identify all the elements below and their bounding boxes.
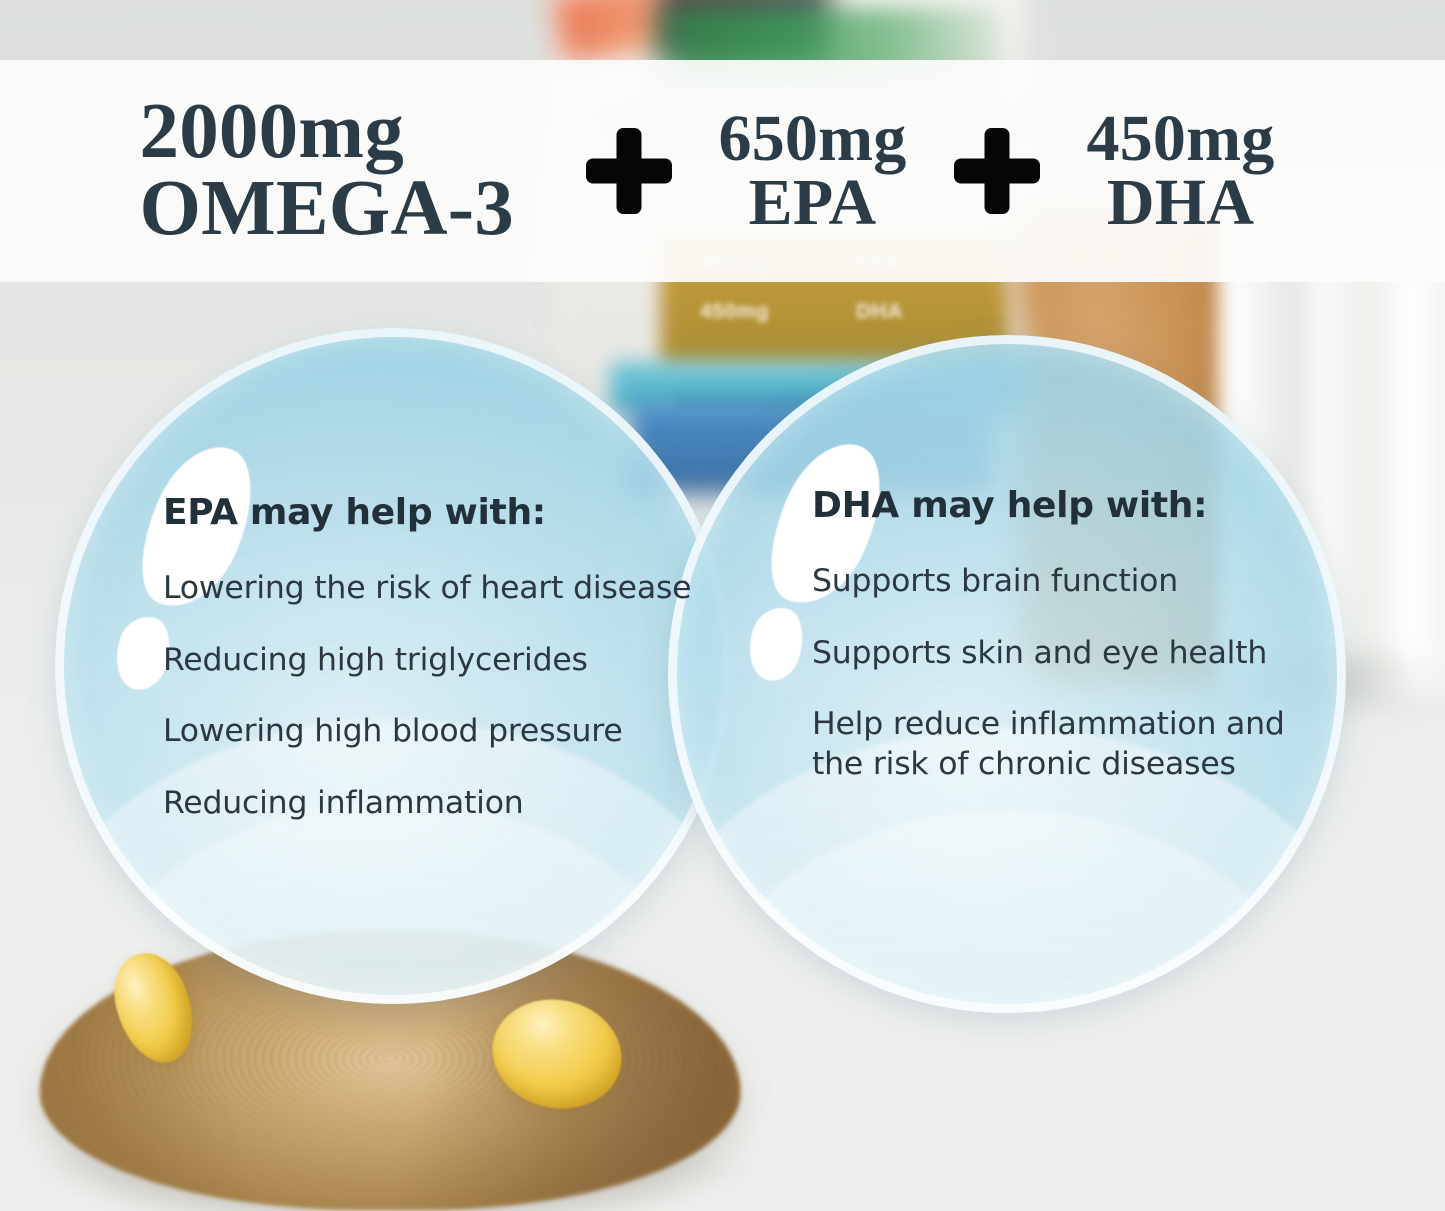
dosage-header-band: 2000mg OMEGA-3 650mg EPA 450mg DHA <box>0 60 1445 282</box>
dosage-omega3-amount: 2000mg <box>140 94 570 171</box>
infographic-canvas: 450mg EPA 450mg DHA 2000mg OMEGA-3 650mg… <box>0 0 1445 1211</box>
dosage-epa-compound: EPA <box>688 171 938 235</box>
plus-icon-1 <box>586 128 672 214</box>
photo-panel-amount-2: 450mg <box>700 300 769 324</box>
dosage-omega3-compound: OMEGA-3 <box>140 171 570 248</box>
dosage-dha-compound: DHA <box>1056 171 1306 235</box>
dha-content: DHA may help with: Supports brain functi… <box>812 485 1312 785</box>
dosage-row: 2000mg OMEGA-3 650mg EPA 450mg DHA <box>0 94 1445 247</box>
epa-content: EPA may help with: Lowering the risk of … <box>163 492 723 824</box>
epa-benefit-item: Lowering high blood pressure <box>163 712 723 752</box>
dha-benefit-item: Supports brain function <box>812 562 1312 602</box>
epa-benefit-list: Lowering the risk of heart disease Reduc… <box>163 569 723 824</box>
dha-benefit-item: Help reduce inflammation and the risk of… <box>812 705 1312 784</box>
dosage-epa: 650mg EPA <box>688 107 938 235</box>
dosage-dha: 450mg DHA <box>1056 107 1306 235</box>
epa-benefit-item: Reducing inflammation <box>163 784 723 824</box>
epa-benefit-item: Reducing high triglycerides <box>163 641 723 681</box>
dosage-omega3: 2000mg OMEGA-3 <box>140 94 570 247</box>
photo-panel-compound-2: DHA <box>856 300 903 324</box>
dosage-dha-amount: 450mg <box>1056 107 1306 171</box>
dosage-epa-amount: 650mg <box>688 107 938 171</box>
dha-title: DHA may help with: <box>812 485 1312 526</box>
dha-benefit-list: Supports brain function Supports skin an… <box>812 562 1312 785</box>
epa-benefit-item: Lowering the risk of heart disease <box>163 569 723 609</box>
epa-title: EPA may help with: <box>163 492 723 533</box>
bubble-highlight-small <box>741 601 811 686</box>
dha-benefit-item: Supports skin and eye health <box>812 634 1312 674</box>
plus-icon-2 <box>954 128 1040 214</box>
